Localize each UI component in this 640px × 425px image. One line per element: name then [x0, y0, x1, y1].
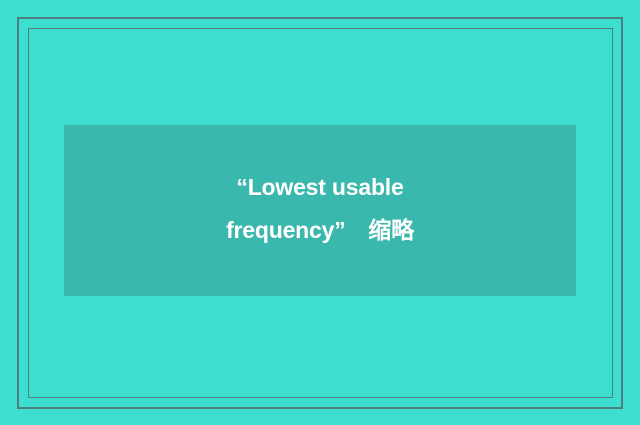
- panel-heading-text: “Lowest usable frequency” 缩略: [64, 166, 576, 255]
- content-panel: “Lowest usable frequency” 缩略: [64, 125, 576, 296]
- slide-canvas: “Lowest usable frequency” 缩略: [0, 0, 640, 425]
